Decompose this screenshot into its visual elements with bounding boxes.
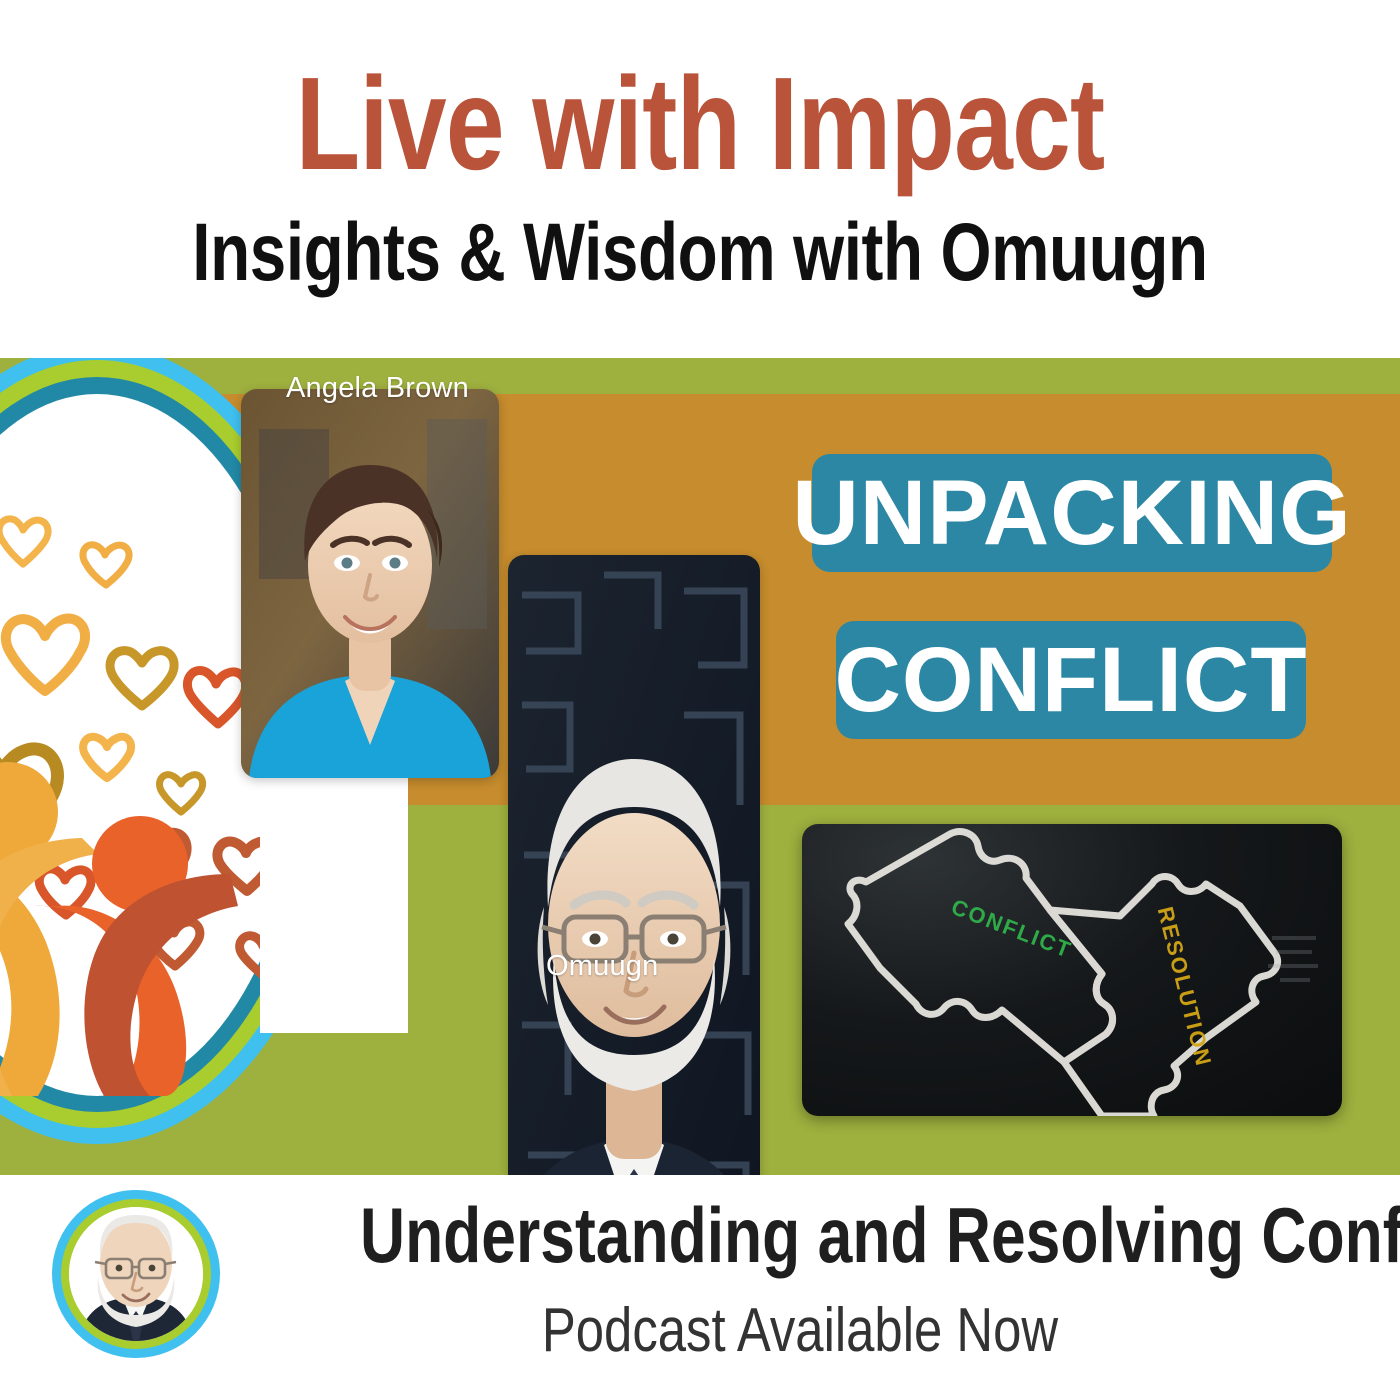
portrait-image-omuugn <box>508 555 760 1175</box>
episode-title: Understanding and Resolving Conflict <box>360 1196 1240 1274</box>
banner-unpacking: UNPACKING <box>812 454 1332 572</box>
avatar[interactable] <box>52 1190 220 1358</box>
logo-figure-amber <box>0 762 98 1096</box>
chalkboard-puzzle-image: CONFLICT RESOLUTION <box>802 824 1342 1116</box>
host-portrait-omuugn[interactable] <box>508 555 760 1175</box>
page-subtitle: Insights & Wisdom with Omuugn <box>140 212 1260 294</box>
logo-clip-panel <box>260 733 408 1033</box>
host-name-label: Omuugn <box>546 950 658 983</box>
page-title: Live with Impact <box>140 58 1260 190</box>
avatar-portrait-icon <box>69 1207 203 1341</box>
header: Live with Impact Insights & Wisdom with … <box>0 0 1400 358</box>
artwork-band: Angela Brown <box>0 358 1400 1175</box>
avatar-photo <box>69 1207 203 1341</box>
portrait-image-angela <box>241 389 499 778</box>
puzzle-pieces-icon <box>802 824 1342 1116</box>
availability-text: Podcast Available Now <box>349 1300 1251 1362</box>
avatar-ring-inner <box>61 1199 211 1349</box>
banner-conflict: CONFLICT <box>836 621 1306 739</box>
guest-name-label: Angela Brown <box>286 372 469 405</box>
guest-portrait-angela-brown[interactable] <box>241 389 499 778</box>
podcast-cover: Live with Impact Insights & Wisdom with … <box>0 0 1400 1400</box>
